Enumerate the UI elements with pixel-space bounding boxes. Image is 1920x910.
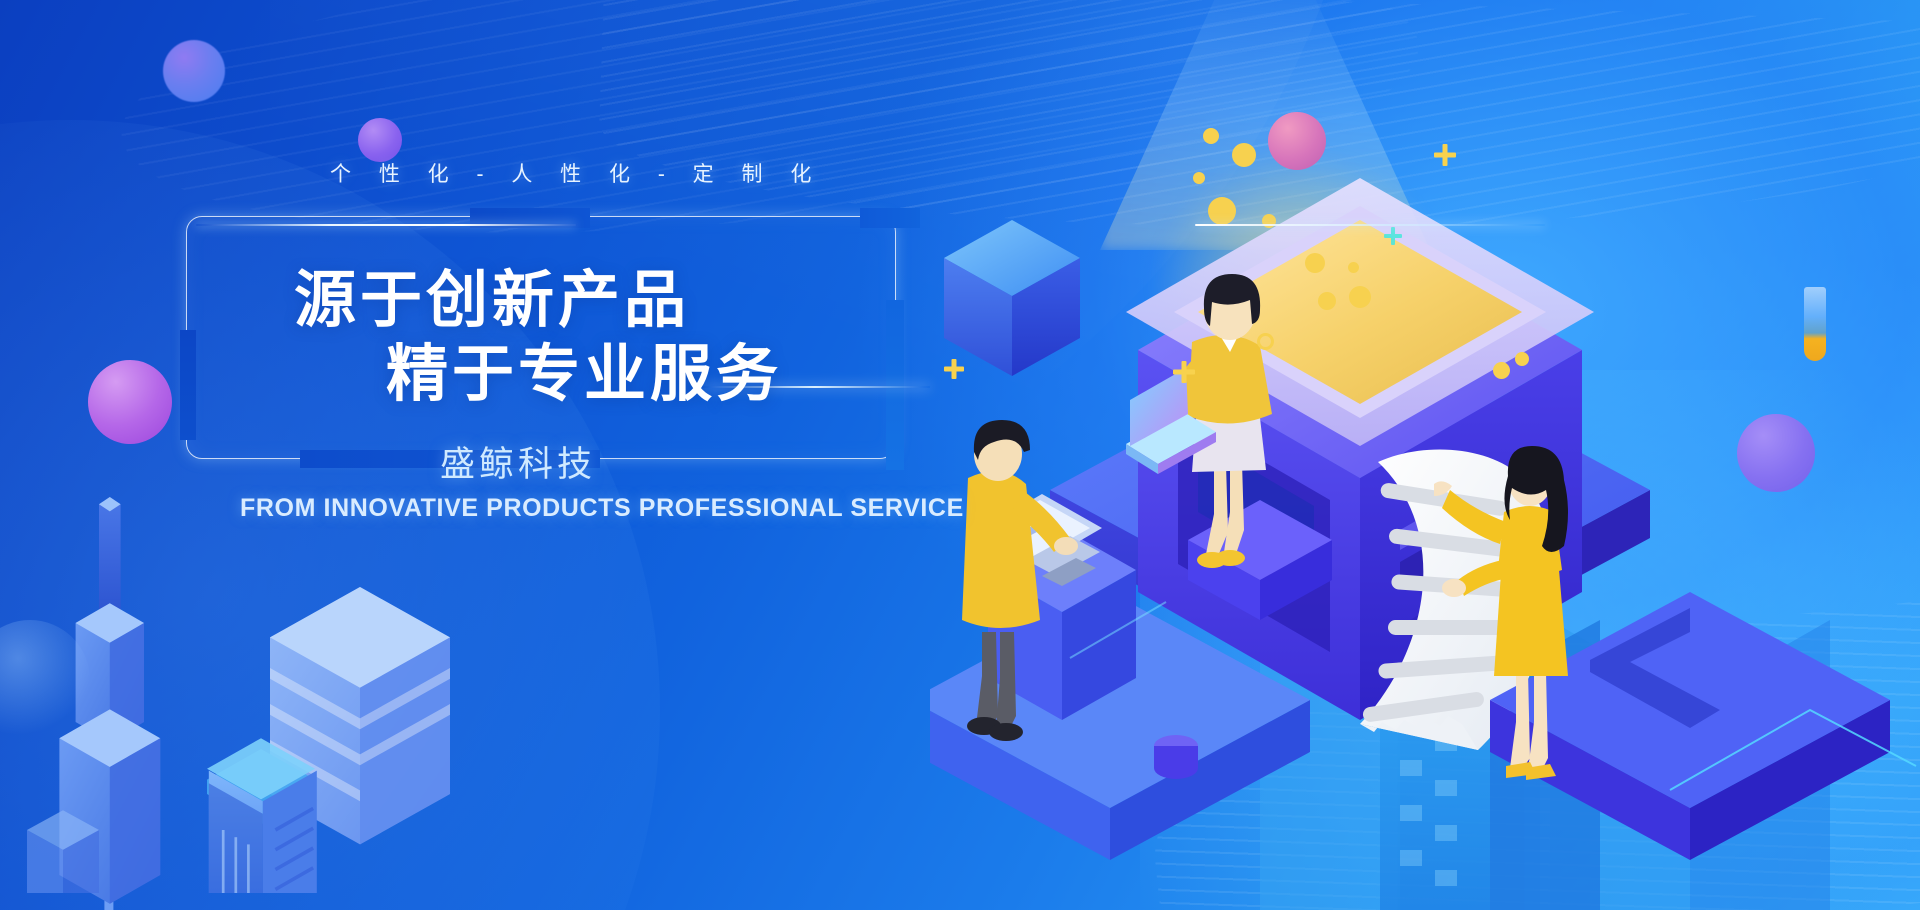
plus-decor-icon-cyan bbox=[1384, 227, 1402, 245]
dot-decor-4 bbox=[1208, 197, 1236, 225]
dot-decor-9 bbox=[1349, 286, 1371, 308]
dot-decor-8 bbox=[1318, 292, 1336, 310]
sphere-decor-purple-small bbox=[358, 118, 402, 162]
dot-decor-11 bbox=[1515, 352, 1529, 366]
plus-decor-icon-left bbox=[1173, 361, 1195, 383]
plus-decor-icon-mid bbox=[944, 359, 964, 379]
english-subtitle-text: FROM INNOVATIVE PRODUCTS PROFESSIONAL SE… bbox=[240, 494, 964, 523]
dot-decor-7 bbox=[1348, 262, 1359, 273]
test-tube-icon bbox=[1804, 287, 1826, 361]
headline-block: 源于创新产品 精于专业服务 bbox=[186, 216, 896, 459]
company-name-text: 盛鲸科技 bbox=[440, 436, 596, 487]
tagline-text: 个 性 化 - 人 性 化 - 定 制 化 bbox=[330, 158, 822, 188]
glow-line-right bbox=[1195, 224, 1545, 226]
ring-decor-icon bbox=[1257, 333, 1274, 350]
headline-line-1: 源于创新产品 bbox=[186, 264, 896, 337]
sphere-decor-pink bbox=[1268, 112, 1326, 170]
plus-decor-icon-right bbox=[1434, 144, 1456, 166]
dot-decor-6 bbox=[1305, 253, 1325, 273]
cylinder-decor-icon bbox=[1154, 735, 1198, 779]
dot-decor-2 bbox=[1232, 143, 1256, 167]
dot-decor-1 bbox=[1203, 128, 1219, 144]
building-glass-cube-top bbox=[207, 738, 317, 893]
hero-banner: 个 性 化 - 人 性 化 - 定 制 化 源于创新产品 精于专业服务 盛鲸科技… bbox=[0, 0, 1920, 910]
dot-decor-3 bbox=[1193, 172, 1205, 184]
headline-line-2: 精于专业服务 bbox=[186, 338, 896, 411]
dot-decor-10 bbox=[1493, 362, 1510, 379]
sphere-decor-top-left bbox=[163, 40, 225, 102]
floating-cube-icon bbox=[944, 220, 1080, 376]
sphere-decor-purple-large bbox=[88, 360, 172, 444]
sphere-decor-violet-right bbox=[1737, 414, 1815, 492]
